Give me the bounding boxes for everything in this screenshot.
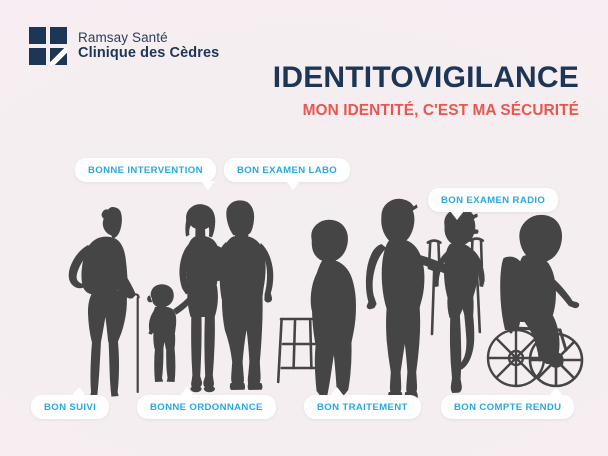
logo-square-top-left [29, 27, 46, 44]
figure-person-with-walker [311, 220, 356, 396]
badge-tail-down-icon [450, 211, 464, 220]
badge-label: BON COMPTE RENDU [454, 402, 561, 413]
brand-logo-text: Ramsay Santé Clinique des Cèdres [78, 30, 219, 61]
badge-tail-up-icon [180, 387, 194, 396]
badge-bonne-intervention: BONNE INTERVENTION [75, 158, 216, 182]
badge-tail-down-icon [286, 181, 300, 190]
logo-square-bottom-left [29, 48, 46, 65]
badge-tail-up-icon [549, 387, 563, 396]
badge-tail-down-icon [201, 181, 215, 190]
badge-bon-traitement: BON TRAITEMENT [304, 395, 421, 419]
badge-bonne-ordonnance: BONNE ORDONNANCE [137, 395, 276, 419]
badge-bon-compte-rendu: BON COMPTE RENDU [441, 395, 574, 419]
patient-silhouettes-illustration [0, 182, 608, 412]
page-title: IDENTITOVIGILANCE [273, 62, 579, 94]
figure-patient-with-crutches [433, 208, 484, 393]
page-subtitle: MON IDENTITÉ, C'EST MA SÉCURITÉ [273, 102, 579, 120]
logo-square-bottom-right [50, 48, 67, 65]
badge-label: BON EXAMEN RADIO [441, 195, 545, 206]
brand-name: Ramsay Santé [78, 30, 219, 45]
figure-elderly-woman-with-cane [69, 207, 140, 397]
figure-adult-man [216, 200, 274, 390]
badge-bon-examen-radio: BON EXAMEN RADIO [428, 188, 558, 212]
badge-tail-up-icon [72, 387, 86, 396]
badge-label: BON SUIVI [44, 402, 96, 413]
badge-label: BONNE INTERVENTION [88, 165, 203, 176]
badge-bon-suivi: BON SUIVI [31, 395, 109, 419]
badge-tail-up-icon [330, 387, 344, 396]
badge-label: BON TRAITEMENT [317, 402, 408, 413]
figure-small-child [147, 284, 193, 382]
clinic-name: Clinique des Cèdres [78, 45, 219, 61]
logo-square-top-right [50, 27, 67, 44]
identitovigilance-poster: Ramsay Santé Clinique des Cèdres IDENTIT… [0, 0, 608, 456]
badge-bon-examen-labo: BON EXAMEN LABO [224, 158, 350, 182]
brand-logo: Ramsay Santé Clinique des Cèdres [29, 27, 219, 65]
logo-diagonal-slash-icon [50, 48, 67, 65]
badge-label: BON EXAMEN LABO [237, 165, 337, 176]
poster-headings: IDENTITOVIGILANCE MON IDENTITÉ, C'EST MA… [273, 62, 579, 120]
badge-label: BONNE ORDONNANCE [150, 402, 263, 413]
ramsay-sante-logo-icon [29, 27, 67, 65]
